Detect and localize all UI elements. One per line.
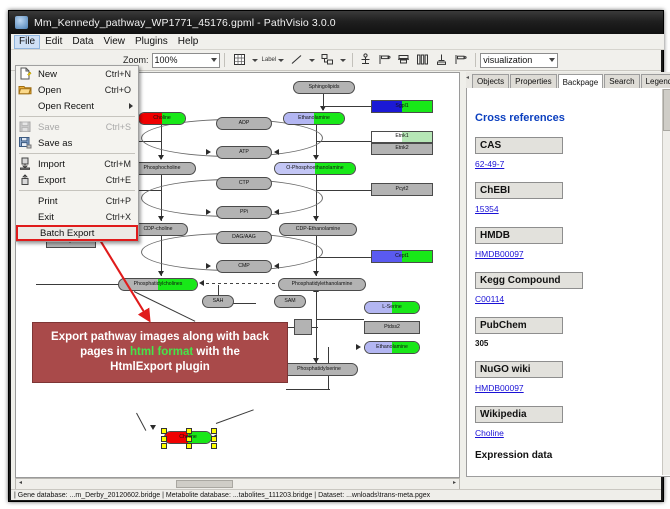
scrollbar-thumb[interactable]: [663, 89, 670, 131]
menu-item-accelerator: Ctrl+E: [106, 175, 138, 185]
annotation-highlight: html format: [130, 346, 193, 358]
status-bar: | Gene database: ...m_Derby_20120602.bri…: [11, 489, 661, 500]
menu-item-import[interactable]: Import Ctrl+M: [16, 156, 138, 172]
node-label: Sgpl1: [395, 104, 408, 109]
db-header-nugo-wiki: NuGO wiki: [475, 361, 563, 378]
chevron-down-icon: [252, 59, 258, 62]
arrowhead-icon: [206, 263, 211, 269]
annotation-line-2-post: with the: [193, 346, 240, 358]
node-label: Phosphatidylserine: [297, 367, 341, 372]
db-link-chebi[interactable]: 15354: [475, 204, 499, 214]
edge: [316, 141, 371, 142]
zoom-label: Zoom:: [123, 55, 149, 65]
pathway-node-cdp-ethanolamine[interactable]: CDP-Ethanolamine: [279, 223, 357, 236]
pathway-node-etnk2[interactable]: Etnk2: [371, 143, 433, 155]
node-label: Ptdss2: [384, 325, 400, 330]
pathway-node-phosphatidylethanolamine[interactable]: Phosphatidylethanolamine: [278, 278, 366, 291]
node-label: Cept1: [395, 254, 409, 259]
menu-item-label: Open Recent: [34, 101, 138, 112]
pathway-node-sgpl1[interactable]: Sgpl1: [371, 100, 433, 113]
chevron-down-icon: [211, 58, 217, 62]
annotation-line-1: Export pathway images along with back: [51, 331, 269, 343]
cross-references-heading: Cross references: [475, 112, 657, 124]
annotation-text: Export pathway images along with back pa…: [46, 330, 274, 376]
pathway-node-sphingolipids[interactable]: Sphingolipids: [293, 81, 355, 94]
app-icon: [15, 16, 28, 29]
node-label: Etnk2: [395, 146, 408, 151]
node-label: SAH: [213, 299, 224, 304]
pathway-node-ctp[interactable]: CTP: [216, 177, 272, 190]
pathway-node-unlabeled[interactable]: [294, 319, 312, 335]
tab-properties[interactable]: Properties: [510, 74, 556, 88]
node-label: O-Phosphoethanolamine: [286, 166, 343, 171]
edge: [323, 106, 371, 107]
order-icon[interactable]: [454, 53, 469, 68]
node-label: Choline: [179, 435, 197, 440]
node-label: ATP: [239, 150, 249, 155]
align-center-icon[interactable]: [397, 53, 412, 68]
db-link-cas[interactable]: 62-49-7: [475, 159, 504, 169]
align-left-icon[interactable]: [378, 53, 393, 68]
toolbar-separator: [224, 53, 225, 67]
db-value-chebi[interactable]: 15354: [475, 204, 657, 214]
pathway-node-l-serine[interactable]: L-Serine: [364, 301, 420, 314]
arrowhead-icon: [158, 155, 164, 160]
backpage-content: Cross references CAS 62-49-7 ChEBI 15354…: [466, 88, 670, 477]
db-header-pubchem: PubChem: [475, 317, 563, 334]
edge: [316, 319, 364, 320]
export-icon: [18, 173, 34, 187]
tab-legend[interactable]: Legend: [641, 74, 670, 88]
pathway-node-ethanolamine-top[interactable]: Ethanolamine: [283, 112, 345, 125]
node-label: PPi: [240, 210, 248, 215]
menu-item-label: Print: [34, 196, 106, 207]
blank-icon: [18, 194, 34, 208]
menu-separator: [19, 153, 135, 154]
pathway-node-ptdss2[interactable]: Ptdss2: [364, 321, 420, 334]
menu-file[interactable]: File: [14, 35, 40, 49]
db-value-cas[interactable]: 62-49-7: [475, 159, 657, 169]
edge: [316, 257, 371, 258]
db-value-kegg-compound[interactable]: C00114: [475, 294, 657, 304]
node-label: Phosphatidylethanolamine: [292, 282, 353, 287]
window-title: Mm_Kennedy_pathway_WP1771_45176.gpml - P…: [34, 17, 336, 29]
db-header-hmdb: HMDB: [475, 227, 563, 244]
arrowhead-icon: [206, 149, 211, 155]
client-area: File Edit Data View Plugins Help Zoom: 1…: [11, 34, 661, 499]
menu-plugins[interactable]: Plugins: [130, 35, 173, 49]
node-label: Ethanolamine: [376, 345, 408, 350]
selection-handle[interactable]: [211, 436, 217, 442]
arrowhead-icon: [206, 209, 211, 215]
scrollbar-thumb[interactable]: [176, 480, 233, 488]
edge: [286, 389, 330, 390]
panel-tab-strip: ◂ Objects Properties Backpage Search Leg…: [466, 72, 670, 89]
edge: [136, 413, 146, 431]
arrowhead-icon: [313, 155, 319, 160]
selection-handle[interactable]: [161, 443, 167, 449]
node-label: SAM: [284, 299, 295, 304]
arrowhead-icon: [313, 216, 319, 221]
menu-item-label: Exit: [34, 212, 106, 223]
blank-icon: [20, 226, 36, 240]
annotation-callout: Export pathway images along with back pa…: [32, 322, 288, 383]
db-link-kegg-compound[interactable]: C00114: [475, 294, 504, 304]
connector-dropdown[interactable]: [319, 53, 346, 68]
arrowhead-icon: [274, 209, 279, 215]
node-label: Phosphocholine: [144, 166, 181, 171]
node-label: Pcyt2: [396, 187, 409, 192]
node-label: CDP-Ethanolamine: [296, 227, 340, 232]
chevron-down-icon: [549, 58, 555, 62]
scroll-left-icon[interactable]: ◂: [16, 479, 25, 487]
blank-icon: [18, 99, 34, 113]
menu-item-accelerator: Ctrl+N: [105, 69, 138, 79]
save-as-icon: [18, 136, 34, 150]
zoom-value: 100%: [155, 55, 178, 65]
chevron-down-icon: [278, 59, 284, 62]
cross-references-section: Cross references CAS 62-49-7 ChEBI 15354…: [475, 88, 657, 461]
scroll-right-icon[interactable]: ▸: [450, 479, 459, 487]
db-header-cas: CAS: [475, 137, 563, 154]
stack-icon[interactable]: [435, 53, 450, 68]
annotation-line-3: HtmlExport plugin: [110, 361, 210, 373]
db-header-wikipedia: Wikipedia: [475, 406, 563, 423]
menu-item-export[interactable]: Export Ctrl+E: [16, 172, 138, 188]
pathway-node-o-phosphoethanolamine[interactable]: O-Phosphoethanolamine: [274, 162, 356, 175]
node-label: CTP: [239, 181, 249, 186]
tab-search[interactable]: Search: [604, 74, 639, 88]
menu-edit[interactable]: Edit: [40, 35, 67, 49]
menu-help[interactable]: Help: [173, 35, 204, 49]
menu-item-label: Batch Export: [36, 228, 136, 239]
pathway-node-phosphatidylserine[interactable]: Phosphatidylserine: [280, 363, 358, 376]
label-dropdown-text: Label: [262, 57, 277, 63]
arrowhead-icon: [356, 344, 361, 350]
pathway-node-choline-top[interactable]: Choline: [138, 112, 186, 125]
menu-item-exit[interactable]: Exit Ctrl+X: [16, 209, 138, 225]
db-link-hmdb[interactable]: HMDB00097: [475, 249, 524, 259]
application-window: Mm_Kennedy_pathway_WP1771_45176.gpml - P…: [8, 10, 664, 502]
db-header-kegg-compound: Kegg Compound: [475, 272, 583, 289]
edge: [216, 409, 254, 424]
node-label: DAG/AAG: [232, 235, 256, 240]
menu-item-accelerator: Ctrl+P: [106, 196, 138, 206]
expression-data-heading: Expression data: [475, 450, 657, 461]
chevron-right-icon: [129, 103, 133, 109]
pathway-node-adp[interactable]: ADP: [216, 117, 272, 130]
save-disk-icon: [18, 120, 34, 134]
pathway-node-pcyt2[interactable]: Pcyt2: [371, 183, 433, 196]
menu-item-label: Import: [34, 159, 104, 170]
tab-backpage[interactable]: Backpage: [558, 74, 604, 89]
node-label: CMP: [238, 264, 250, 269]
pathway-node-sam[interactable]: SAM: [274, 295, 306, 308]
arrowhead-icon: [274, 263, 279, 269]
arrowhead-icon: [313, 271, 319, 276]
menu-separator: [19, 190, 135, 191]
db-value-hmdb[interactable]: HMDB00097: [475, 249, 657, 259]
panel-vertical-scrollbar[interactable]: [662, 89, 670, 475]
pathway-node-ethanolamine-low[interactable]: Ethanolamine: [364, 341, 420, 354]
menu-item-label: Open: [34, 85, 105, 96]
edge: [316, 291, 317, 331]
toolbar-separator: [475, 53, 476, 67]
screenshot-root: Mm_Kennedy_pathway_WP1771_45176.gpml - P…: [0, 0, 670, 509]
selection-handle[interactable]: [186, 443, 192, 449]
visualization-combobox[interactable]: visualization: [480, 53, 558, 68]
menu-item-label: Save: [34, 122, 106, 133]
selection-handle[interactable]: [161, 428, 167, 434]
blank-icon: [18, 210, 34, 224]
anchor-icon[interactable]: [359, 53, 374, 68]
menu-item-accelerator: Ctrl+O: [105, 85, 138, 95]
menu-item-save: Save Ctrl+S: [16, 119, 138, 135]
node-label: Ethanolamine: [298, 116, 330, 121]
backpage-side-panel: ◂ Objects Properties Backpage Search Leg…: [466, 72, 670, 476]
label-dropdown[interactable]: Label: [262, 57, 285, 63]
pathway-node-cept1[interactable]: Cept1: [371, 250, 433, 263]
chevron-down-icon: [309, 59, 315, 62]
pathway-node-atp[interactable]: ATP: [216, 146, 272, 159]
node-label: Choline: [153, 116, 171, 121]
menu-item-accelerator: Ctrl+X: [106, 212, 138, 222]
edge: [316, 190, 371, 191]
node-label: Etnk1: [395, 134, 408, 139]
menu-item-accelerator: Ctrl+M: [104, 159, 138, 169]
menu-view[interactable]: View: [98, 35, 130, 49]
file-menu-dropdown[interactable]: New Ctrl+N Open Ctrl+O Open Recent: [15, 65, 139, 242]
db-value-wikipedia[interactable]: Choline: [475, 428, 657, 438]
arrowhead-icon: [150, 425, 156, 430]
arrowhead-icon: [199, 280, 204, 286]
menu-separator: [19, 116, 135, 117]
tab-scroll-icon[interactable]: ◂: [466, 74, 471, 86]
menu-item-print[interactable]: Print Ctrl+P: [16, 193, 138, 209]
selection-handle[interactable]: [211, 443, 217, 449]
menu-bar: File Edit Data View Plugins Help: [11, 34, 664, 50]
menu-item-accelerator: Ctrl+S: [106, 122, 138, 132]
menu-item-open[interactable]: Open Ctrl+O: [16, 82, 138, 98]
status-bar-text: | Gene database: ...m_Derby_20120602.bri…: [11, 492, 430, 499]
edge-dashed: [206, 283, 278, 284]
menu-item-label: New: [34, 69, 105, 80]
menu-item-label: Export: [34, 175, 106, 186]
import-icon: [18, 157, 34, 171]
node-label: L-Serine: [382, 305, 402, 310]
pathway-node-ppi[interactable]: PPi: [216, 206, 272, 219]
menu-item-open-recent[interactable]: Open Recent: [16, 98, 138, 114]
menu-data[interactable]: Data: [67, 35, 98, 49]
menu-item-save-as[interactable]: Save as: [16, 135, 138, 151]
db-value-pubchem: 305: [475, 339, 657, 348]
toolbar-separator: [352, 53, 353, 67]
menu-item-new[interactable]: New Ctrl+N: [16, 66, 138, 82]
node-label: ADP: [239, 121, 250, 126]
distribute-icon[interactable]: [416, 53, 431, 68]
db-link-wikipedia[interactable]: Choline: [475, 428, 504, 438]
annotation-line-2-pre: pages in: [80, 346, 130, 358]
grid-icon: [233, 53, 248, 68]
pathway-node-dag-ag[interactable]: DAG/AAG: [216, 231, 272, 244]
pathway-node-cmp[interactable]: CMP: [216, 260, 272, 273]
pathway-node-sah[interactable]: SAH: [202, 295, 234, 308]
grid-dropdown[interactable]: [231, 53, 258, 68]
line-icon: [290, 53, 305, 68]
new-file-icon: [18, 67, 34, 81]
tab-objects[interactable]: Objects: [472, 74, 509, 88]
chevron-down-icon: [340, 59, 346, 62]
node-label: Sphingolipids: [309, 85, 340, 90]
pathway-node-etnk1[interactable]: Etnk1: [371, 131, 433, 143]
arrowhead-icon: [274, 149, 279, 155]
visualization-value: visualization: [483, 55, 532, 65]
menu-item-batch-export[interactable]: Batch Export: [16, 225, 138, 241]
menu-item-label: Save as: [34, 138, 131, 149]
zoom-combobox[interactable]: 100%: [152, 53, 220, 68]
selection-handle[interactable]: [161, 436, 167, 442]
open-folder-icon: [18, 83, 34, 97]
db-value-nugo-wiki[interactable]: HMDB00097: [475, 383, 657, 393]
arrowhead-icon: [158, 216, 164, 221]
connector-icon: [321, 53, 336, 68]
selection-handle[interactable]: [211, 428, 217, 434]
title-bar: Mm_Kennedy_pathway_WP1771_45176.gpml - P…: [9, 11, 663, 34]
line-dropdown[interactable]: [288, 53, 315, 68]
db-header-chebi: ChEBI: [475, 182, 563, 199]
db-link-nugo-wiki[interactable]: HMDB00097: [475, 383, 524, 393]
